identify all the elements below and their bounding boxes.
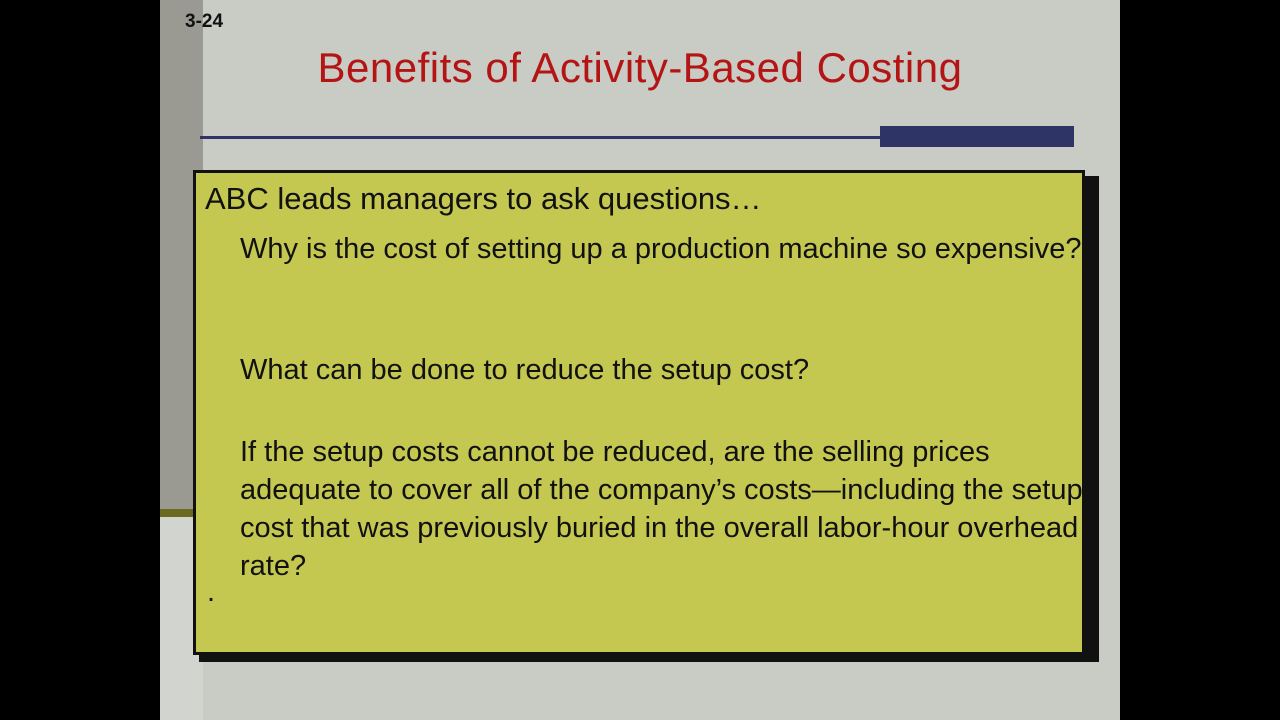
- trailing-bullet-mark: .: [207, 578, 215, 607]
- content-panel: ABC leads managers to ask questions… Why…: [193, 170, 1085, 655]
- question-paragraph-2: What can be done to reduce the setup cos…: [240, 351, 1085, 389]
- title-underline-rule: [200, 136, 882, 139]
- title-accent-block: [880, 126, 1074, 147]
- content-heading: ABC leads managers to ask questions…: [205, 181, 762, 217]
- slide-number: 3-24: [185, 11, 223, 33]
- slide-viewer: 3-24 Benefits of Activity-Based Costing …: [0, 0, 1280, 720]
- slide-canvas: 3-24 Benefits of Activity-Based Costing …: [160, 0, 1120, 720]
- question-paragraph-3: If the setup costs cannot be reduced, ar…: [240, 433, 1085, 585]
- question-paragraph-1: Why is the cost of setting up a producti…: [240, 230, 1085, 268]
- page-title: Benefits of Activity-Based Costing: [160, 44, 1120, 92]
